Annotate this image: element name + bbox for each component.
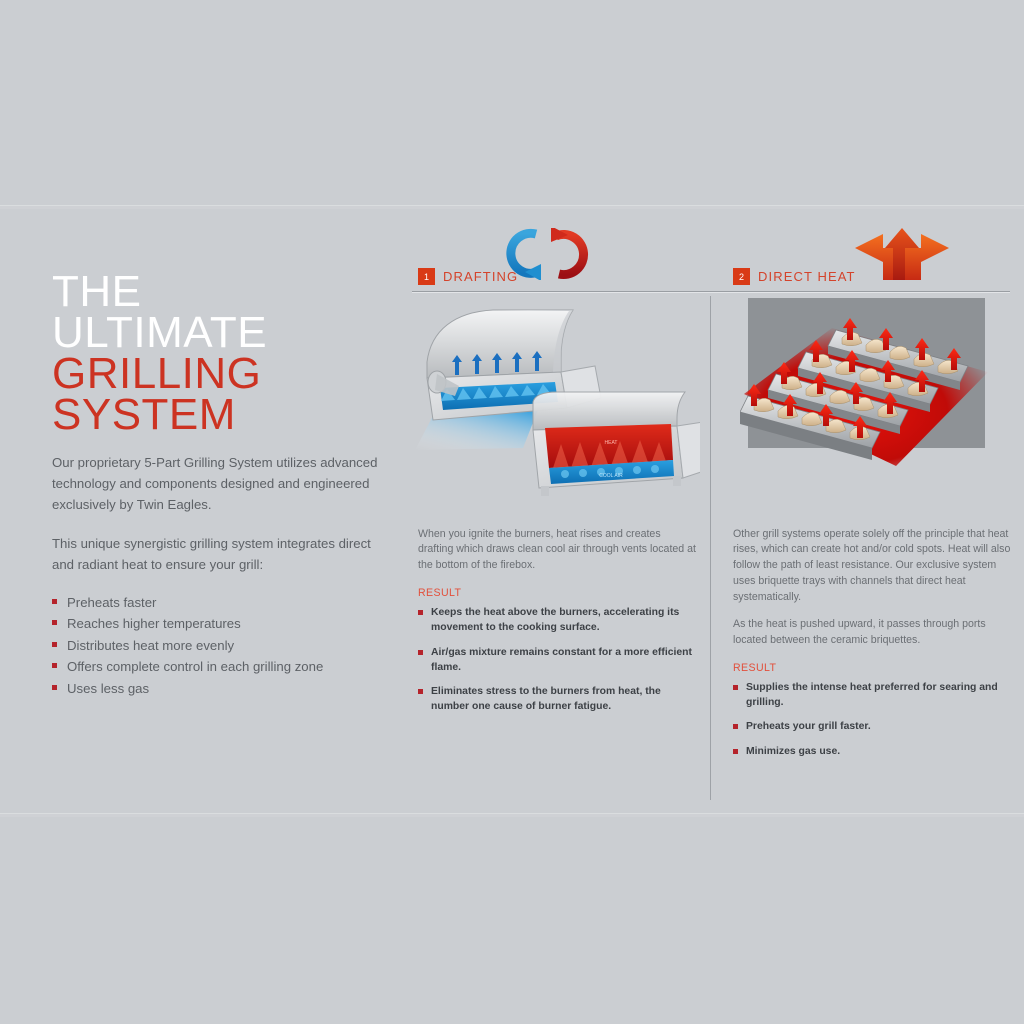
bullet-square-icon	[418, 610, 423, 615]
drafting-paragraph-1: When you ignite the burners, heat rises …	[418, 527, 696, 575]
title-line-2: ULTIMATE	[52, 313, 388, 354]
list-item-label: Distributes heat more evenly	[67, 638, 234, 653]
title-line-1: THE	[52, 272, 388, 313]
bullet-square-icon	[52, 620, 57, 625]
section-number-badge: 1	[418, 268, 435, 285]
list-item-label: Air/gas mixture remains constant for a m…	[431, 647, 692, 673]
list-item: Preheats faster	[52, 592, 388, 614]
direct-heat-paragraph-1: Other grill systems operate solely off t…	[733, 527, 1011, 606]
drafting-result-heading: RESULT	[418, 587, 696, 599]
list-item: Preheats your grill faster.	[733, 720, 1011, 735]
left-column: THE ULTIMATE GRILLING SYSTEM Our proprie…	[52, 272, 388, 699]
bullet-square-icon	[733, 749, 738, 754]
list-item-label: Eliminates stress to the burners from he…	[431, 686, 661, 712]
intro-paragraph-1: Our proprietary 5-Part Grilling System u…	[52, 452, 388, 516]
list-item: Minimizes gas use.	[733, 745, 1011, 760]
cool-air-label: COOL AIR	[599, 473, 623, 479]
title-line-3: GRILLING	[52, 354, 388, 395]
bullet-square-icon	[733, 724, 738, 729]
list-item-label: Preheats your grill faster.	[746, 721, 871, 732]
circular-arrows-icon	[505, 228, 600, 280]
list-item-label: Minimizes gas use.	[746, 746, 840, 757]
section-header-rule-highlight	[412, 292, 1010, 293]
section-number-badge: 2	[733, 268, 750, 285]
list-item: Eliminates stress to the burners from he…	[418, 685, 696, 715]
title-line-4: SYSTEM	[52, 395, 388, 436]
section-header-direct-heat: 2 DIRECT HEAT	[733, 268, 856, 285]
list-item-label: Uses less gas	[67, 681, 149, 696]
list-item-label: Supplies the intense heat preferred for …	[746, 682, 998, 708]
drafting-content: When you ignite the burners, heat rises …	[418, 516, 696, 725]
direct-heat-result-heading: RESULT	[733, 662, 1011, 674]
column-divider	[710, 296, 711, 800]
list-item-label: Preheats faster	[67, 595, 156, 610]
list-item-label: Reaches higher temperatures	[67, 616, 241, 631]
section-label: DIRECT HEAT	[758, 269, 856, 284]
bullet-square-icon	[418, 689, 423, 694]
intro-paragraph-2: This unique synergistic grilling system …	[52, 533, 388, 576]
list-item-label: Offers complete control in each grilling…	[67, 659, 323, 674]
bullet-square-icon	[418, 650, 423, 655]
heat-label: HEAT	[605, 440, 618, 446]
triple-arrow-up-icon	[853, 228, 951, 280]
background-band-bottom	[0, 814, 1024, 817]
list-item: Distributes heat more evenly	[52, 635, 388, 657]
list-item: Keeps the heat above the burners, accele…	[418, 606, 696, 636]
brochure-page: THE ULTIMATE GRILLING SYSTEM Our proprie…	[0, 0, 1024, 1024]
grill-drafting-illustration: HEAT COOL AIR	[415, 300, 700, 505]
briquette-tray-illustration	[740, 298, 993, 470]
bullet-square-icon	[52, 685, 57, 690]
direct-heat-content: Other grill systems operate solely off t…	[733, 516, 1011, 770]
background-seam-bottom	[0, 813, 1024, 814]
bullet-square-icon	[52, 663, 57, 668]
list-item: Offers complete control in each grilling…	[52, 656, 388, 678]
bullet-square-icon	[733, 685, 738, 690]
background-band-top	[0, 206, 1024, 209]
background-seam-top	[0, 205, 1024, 206]
direct-heat-result-list: Supplies the intense heat preferred for …	[733, 681, 1011, 760]
list-item-label: Keeps the heat above the burners, accele…	[431, 607, 679, 633]
list-item: Reaches higher temperatures	[52, 613, 388, 635]
list-item: Uses less gas	[52, 678, 388, 700]
benefits-list: Preheats faster Reaches higher temperatu…	[52, 592, 388, 700]
section-header-drafting: 1 DRAFTING	[418, 268, 518, 285]
bullet-square-icon	[52, 599, 57, 604]
list-item: Air/gas mixture remains constant for a m…	[418, 646, 696, 676]
bullet-square-icon	[52, 642, 57, 647]
direct-heat-paragraph-2: As the heat is pushed upward, it passes …	[733, 617, 1011, 649]
page-title: THE ULTIMATE GRILLING SYSTEM	[52, 272, 388, 436]
list-item: Supplies the intense heat preferred for …	[733, 681, 1011, 711]
drafting-result-list: Keeps the heat above the burners, accele…	[418, 606, 696, 715]
